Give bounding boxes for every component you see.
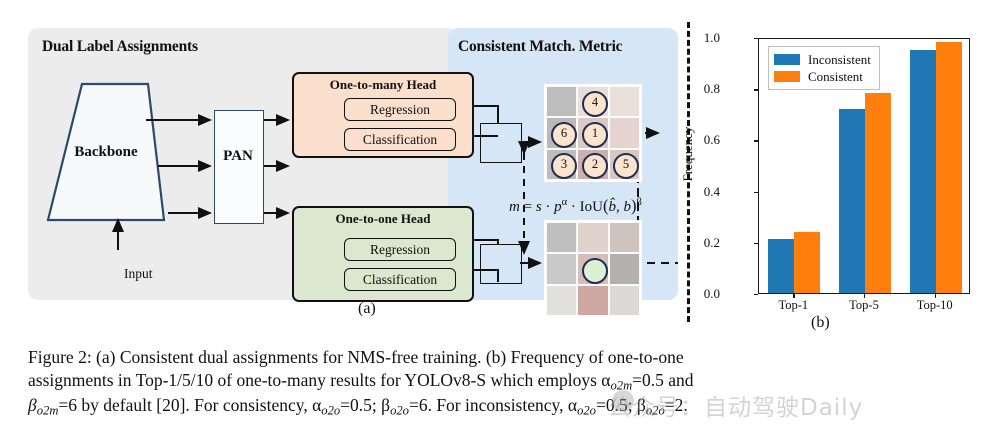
legend-swatch-inconsistent: [774, 54, 800, 65]
one-to-one-image-grid: [544, 220, 642, 318]
x-tick-mark: [793, 294, 794, 298]
bar-top-10-inconsistent: [910, 50, 936, 293]
y-tick-label: 1.0: [680, 30, 720, 46]
y-tick-label: 0.8: [680, 81, 720, 97]
y-tick-mark: [754, 243, 758, 244]
x-tick-mark: [864, 294, 865, 298]
legend-item-consistent[interactable]: Consistent: [774, 68, 871, 85]
y-tick-label: 0.4: [680, 184, 720, 200]
grid-marker-2: 2: [582, 153, 608, 179]
o2m-output-connector: [480, 123, 522, 163]
one-to-one-head-title: One-to-one Head: [294, 211, 472, 227]
figure-root: Dual Label Assignments Consistent Match.…: [0, 0, 996, 438]
bar-top-1-inconsistent: [768, 239, 794, 293]
grid-marker-3: 3: [551, 153, 577, 179]
match-metric-formula: m = s · pα · IoU(b̂, b)β: [509, 196, 642, 216]
o2o-output-connector: [480, 244, 522, 284]
bar-top-1-consistent: [794, 232, 820, 293]
y-tick-mark: [754, 192, 758, 193]
consistent-match-metric-title: Consistent Match. Metric: [458, 38, 622, 56]
o2o-classification-box: Classification: [344, 268, 456, 291]
panel-a-diagram: Dual Label Assignments Consistent Match.…: [28, 28, 678, 313]
backbone-label: Backbone: [50, 144, 162, 161]
one-to-many-head-box: One-to-many Head Regression Classificati…: [292, 72, 474, 158]
legend-item-inconsistent[interactable]: Inconsistent: [774, 51, 871, 68]
bar-top-5-consistent: [865, 93, 891, 293]
input-label: Input: [124, 266, 153, 282]
x-tick-label-top-5: Top-5: [829, 298, 899, 313]
panel-a-subcaption: (a): [358, 300, 376, 318]
chart-legend: InconsistentConsistent: [768, 46, 880, 90]
one-to-one-head-box: One-to-one Head Regression Classificatio…: [292, 206, 474, 302]
legend-label-consistent: Consistent: [808, 69, 863, 85]
grid-marker-4: 4: [582, 91, 608, 117]
o2m-classification-box: Classification: [344, 128, 456, 151]
grid-marker-6: 6: [551, 122, 577, 148]
panel-b-subcaption: (b): [811, 314, 830, 332]
y-tick-label: 0.0: [680, 286, 720, 302]
y-tick-mark: [754, 38, 758, 39]
y-tick-mark: [754, 140, 758, 141]
bar-top-10-consistent: [936, 42, 962, 293]
panel-b-chart: Frequency 0.00.20.40.60.81.0 Top-1Top-5T…: [706, 26, 986, 326]
watermark-text: 公众号：自动驾驶Daily: [608, 388, 863, 422]
y-tick-mark: [754, 89, 758, 90]
y-tick-label: 0.6: [680, 132, 720, 148]
x-tick-label-top-1: Top-1: [758, 298, 828, 313]
y-tick-mark: [754, 294, 758, 295]
one-to-many-head-title: One-to-many Head: [294, 77, 472, 93]
legend-label-inconsistent: Inconsistent: [808, 52, 871, 68]
legend-swatch-consistent: [774, 71, 800, 82]
grid-marker-selected: [582, 258, 608, 284]
x-tick-label-top-10: Top-10: [900, 298, 970, 313]
y-tick-label: 0.2: [680, 235, 720, 251]
o2m-regression-box: Regression: [344, 98, 456, 121]
bar-top-5-inconsistent: [839, 109, 865, 293]
pan-box: [214, 110, 264, 224]
x-tick-mark: [935, 294, 936, 298]
grid-marker-1: 1: [582, 122, 608, 148]
pan-label: PAN: [214, 148, 262, 165]
one-to-many-image-grid: 4 6 1 3 2 5: [544, 84, 642, 182]
o2o-regression-box: Regression: [344, 238, 456, 261]
dual-label-assignments-title: Dual Label Assignments: [42, 38, 198, 56]
grid-marker-5: 5: [613, 153, 639, 179]
caption-line-1: Figure 2: (a) Consistent dual assignment…: [28, 346, 968, 369]
